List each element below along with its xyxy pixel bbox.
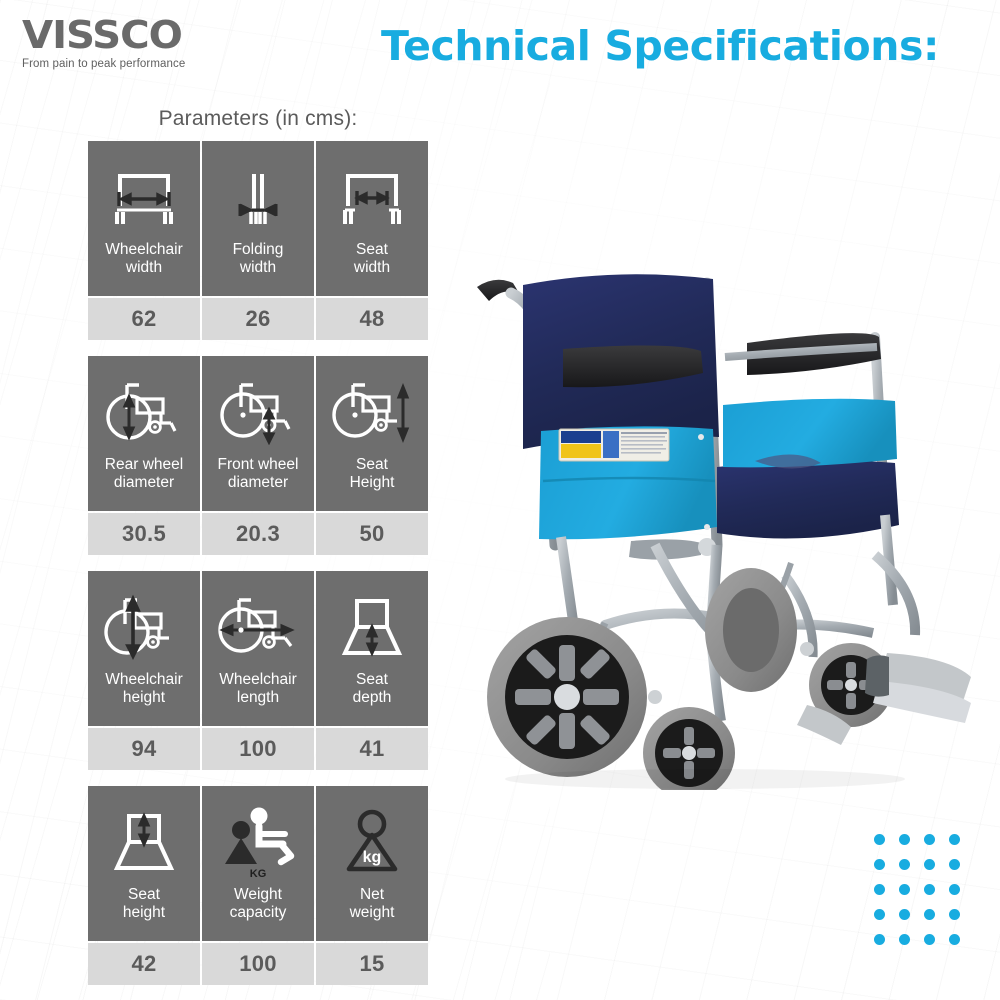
decoration-dot bbox=[924, 909, 935, 920]
decoration-dot bbox=[899, 884, 910, 895]
wheelchair-total-height-icon bbox=[94, 583, 194, 671]
spec-label-line1: Seat bbox=[356, 456, 388, 473]
decoration-dot bbox=[899, 859, 910, 870]
seat-fabric bbox=[717, 461, 899, 539]
spec-label-line1: Wheelchair bbox=[219, 671, 297, 688]
spec-block: Rear wheeldiameter Front wheeldiameter bbox=[88, 356, 428, 555]
specifications-table: Wheelchairwidth Foldingwidth bbox=[88, 141, 428, 1000]
spec-value-cell: 42 bbox=[88, 943, 200, 985]
decoration-dot bbox=[874, 934, 885, 945]
spec-header-row: Rear wheeldiameter Front wheeldiameter bbox=[88, 356, 428, 511]
wheelchair-product-photo bbox=[455, 245, 1000, 790]
spec-label-line1: Rear wheel bbox=[105, 456, 183, 473]
armrest-right bbox=[725, 333, 881, 375]
spec-value-cell: 62 bbox=[88, 298, 200, 340]
decoration-dot bbox=[924, 859, 935, 870]
spec-label: Foldingwidth bbox=[231, 241, 286, 277]
icon-caption: KG bbox=[250, 868, 267, 880]
wheelchair-rear-wheel-diameter-icon bbox=[94, 368, 194, 456]
spec-value-cell: 48 bbox=[316, 298, 428, 340]
wheelchair-seat-height-icon bbox=[322, 368, 422, 456]
spec-label-line1: Front wheel bbox=[218, 456, 299, 473]
parameters-caption: Parameters (in cms): bbox=[88, 107, 428, 131]
spec-value-cell: 30.5 bbox=[88, 513, 200, 555]
spec-label-line2: width bbox=[240, 259, 276, 276]
spec-header-cell: Front wheeldiameter bbox=[202, 356, 314, 511]
spec-label-line1: Seat bbox=[128, 886, 160, 903]
spec-header-cell: SeatHeight bbox=[316, 356, 428, 511]
spec-header-cell: Wheelchairheight bbox=[88, 571, 200, 726]
spec-label: Wheelchairlength bbox=[217, 671, 299, 707]
spec-label-line1: Wheelchair bbox=[105, 671, 183, 688]
spec-label-line2: width bbox=[354, 259, 390, 276]
spec-value-cell: 50 bbox=[316, 513, 428, 555]
spec-header-cell: Rear wheeldiameter bbox=[88, 356, 200, 511]
decoration-dot bbox=[924, 884, 935, 895]
spec-value-cell: 41 bbox=[316, 728, 428, 770]
brand-logo-wordmark: VISSCO bbox=[22, 16, 245, 54]
dot-grid-decoration bbox=[874, 834, 960, 945]
rear-wheel-near bbox=[487, 617, 647, 777]
wheelchair-front-width-icon bbox=[94, 153, 194, 241]
spec-value-cell: 15 bbox=[316, 943, 428, 985]
net-weight-icon: kg bbox=[322, 798, 422, 886]
decoration-dot bbox=[949, 884, 960, 895]
spec-label: SeatHeight bbox=[348, 456, 397, 492]
spec-label: Front wheeldiameter bbox=[216, 456, 301, 492]
spec-value-cell: 94 bbox=[88, 728, 200, 770]
decoration-dot bbox=[899, 834, 910, 845]
wheelchair-seat-width-icon bbox=[322, 153, 422, 241]
spec-block: Seatheight KGWeightcapacity kg Netweight… bbox=[88, 786, 428, 985]
decoration-dot bbox=[874, 834, 885, 845]
spec-label-line2: weight bbox=[350, 904, 395, 921]
wheelchair-folded-width-icon bbox=[208, 153, 308, 241]
decoration-dot bbox=[899, 909, 910, 920]
brand-logo: VISSCO From pain to peak performance bbox=[22, 16, 232, 70]
spec-header-row: Seatheight KGWeightcapacity kg Netweight bbox=[88, 786, 428, 941]
spec-label-line2: depth bbox=[353, 689, 392, 706]
spec-label: Wheelchairheight bbox=[103, 671, 185, 707]
spec-header-row: Wheelchairheight Wheelchairlength bbox=[88, 571, 428, 726]
spec-label: Seatheight bbox=[121, 886, 167, 922]
spec-header-cell: kg Netweight bbox=[316, 786, 428, 941]
spec-value-cell: 100 bbox=[202, 943, 314, 985]
spec-header-cell: Wheelchairlength bbox=[202, 571, 314, 726]
spec-label-line2: diameter bbox=[114, 474, 174, 491]
seat-height-icon bbox=[94, 798, 194, 886]
spec-value-row: 30.520.350 bbox=[88, 513, 428, 555]
rear-wheel-far bbox=[705, 568, 797, 692]
decoration-dot bbox=[949, 859, 960, 870]
spec-label-line1: Wheelchair bbox=[105, 241, 183, 258]
spec-label-line2: width bbox=[126, 259, 162, 276]
spec-label: Wheelchairwidth bbox=[103, 241, 185, 277]
spec-label: Netweight bbox=[348, 886, 397, 922]
spec-label-line2: length bbox=[237, 689, 279, 706]
spec-header-cell: Foldingwidth bbox=[202, 141, 314, 296]
decoration-dot bbox=[874, 884, 885, 895]
technical-specifications-page: VISSCO From pain to peak performance Tec… bbox=[0, 0, 1000, 1000]
spec-label-line2: height bbox=[123, 904, 165, 921]
spec-label: Rear wheeldiameter bbox=[103, 456, 185, 492]
decoration-dot bbox=[949, 909, 960, 920]
spec-header-cell: Seatdepth bbox=[316, 571, 428, 726]
spec-label-line2: Height bbox=[350, 474, 395, 491]
spec-header-cell: Seatheight bbox=[88, 786, 200, 941]
decoration-dot bbox=[924, 834, 935, 845]
spec-label-line2: height bbox=[123, 689, 165, 706]
spec-header-cell: KGWeightcapacity bbox=[202, 786, 314, 941]
spec-label-line1: Weight bbox=[234, 886, 282, 903]
spec-value-row: 622648 bbox=[88, 298, 428, 340]
spec-value-cell: 100 bbox=[202, 728, 314, 770]
spec-label-line2: capacity bbox=[230, 904, 287, 921]
spec-header-cell: Wheelchairwidth bbox=[88, 141, 200, 296]
decoration-dot bbox=[924, 934, 935, 945]
spec-value-row: 4210015 bbox=[88, 943, 428, 985]
page-title: Technical Specifications: bbox=[340, 24, 980, 69]
spec-block: Wheelchairwidth Foldingwidth bbox=[88, 141, 428, 340]
decoration-dot bbox=[899, 934, 910, 945]
spec-block: Wheelchairheight Wheelchairlength bbox=[88, 571, 428, 770]
spec-label-line1: Folding bbox=[233, 241, 284, 258]
spec-value-cell: 26 bbox=[202, 298, 314, 340]
spec-label: Seatdepth bbox=[351, 671, 394, 707]
spec-header-row: Wheelchairwidth Foldingwidth bbox=[88, 141, 428, 296]
wheelchair-total-length-icon bbox=[208, 583, 308, 671]
spec-label: Seatwidth bbox=[352, 241, 392, 277]
spec-label-line1: Net bbox=[360, 886, 384, 903]
decoration-dot bbox=[949, 834, 960, 845]
svg-text:kg: kg bbox=[363, 849, 382, 866]
decoration-dot bbox=[874, 909, 885, 920]
product-sticker-label bbox=[559, 429, 669, 461]
spec-label: Weightcapacity bbox=[228, 886, 289, 922]
seat-depth-icon bbox=[322, 583, 422, 671]
wheelchair-front-wheel-diameter-icon bbox=[208, 368, 308, 456]
spec-header-cell: Seatwidth bbox=[316, 141, 428, 296]
decoration-dot bbox=[874, 859, 885, 870]
spec-label-line1: Seat bbox=[356, 241, 388, 258]
decoration-dot bbox=[949, 934, 960, 945]
weight-capacity-icon: KG bbox=[208, 798, 308, 886]
spec-value-cell: 20.3 bbox=[202, 513, 314, 555]
spec-value-row: 9410041 bbox=[88, 728, 428, 770]
brand-tagline: From pain to peak performance bbox=[22, 58, 232, 70]
spec-label-line1: Seat bbox=[356, 671, 388, 688]
spec-label-line2: diameter bbox=[228, 474, 288, 491]
